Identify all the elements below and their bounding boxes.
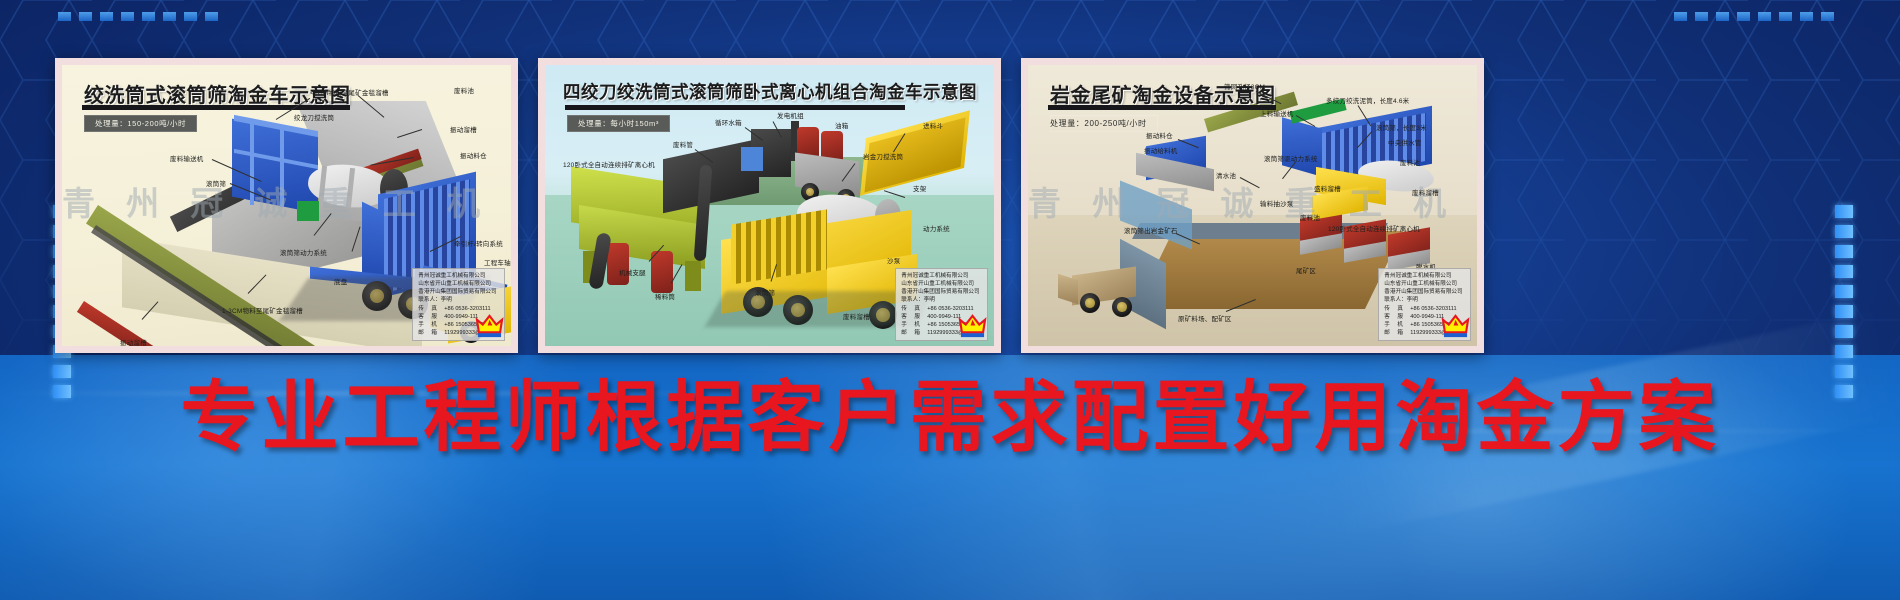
drive-motor — [297, 201, 319, 221]
callout: 沙泵 — [887, 255, 900, 265]
top-tick-row — [1674, 8, 1842, 17]
mobile-label: 手 机 — [418, 321, 444, 329]
crown-flame-logo-icon — [958, 313, 987, 340]
callout: 振动溜槽 — [450, 124, 477, 134]
service-value: 400-9949-111 — [444, 314, 478, 320]
cage-post — [280, 125, 284, 207]
callout: 振动料仓 — [460, 150, 487, 160]
email-label: 邮 箱 — [1384, 329, 1410, 337]
callout: 循环水箱 — [715, 117, 742, 127]
callout: 滚筒筛 — [206, 178, 226, 188]
callout: 盛料溜槽 — [1314, 183, 1341, 193]
promo-headline: 专业工程师根据客户需求配置好用淘金方案 — [0, 380, 1900, 457]
callout: 废料池 — [454, 85, 474, 95]
contact-person: 联系人：李明 — [418, 296, 499, 304]
crown-flame-logo-icon — [1441, 313, 1470, 340]
callout: 废料溜槽 — [1412, 187, 1439, 197]
callout: 振动给料机 — [1144, 145, 1178, 155]
contact-person: 联系人：李明 — [901, 296, 982, 304]
crown-flame-logo-icon — [475, 313, 504, 340]
callout: 输料抽沙泵 — [1260, 198, 1294, 208]
support-leg — [685, 261, 701, 291]
right-dash-column — [1835, 205, 1853, 405]
diagram-panel-3[interactable]: 青 州 冠 诚 重 工 机 械 有 限 公 司 岩金尾矿淘金设备示意图 处理量：… — [1021, 58, 1484, 353]
loader-wheel — [1112, 297, 1132, 317]
panel-1-scene: 青 州 冠 诚 重 工 机 械 有 限 公 司 绞洗筒式滚筒筛淘金车示意图 处理… — [62, 65, 511, 346]
callout: 中央供水管 — [1388, 137, 1422, 147]
company-name-3: 香港开山集团国际贸易有限公司 — [901, 288, 982, 296]
service-label: 客 服 — [901, 313, 927, 321]
service-label: 客 服 — [418, 313, 444, 321]
callout: 振动料仓 — [1146, 130, 1173, 140]
loader-wheel — [1080, 293, 1100, 313]
feed-tank — [651, 251, 673, 293]
panel-3-inner: 青 州 冠 诚 重 工 机 械 有 限 公 司 岩金尾矿淘金设备示意图 处理量：… — [1028, 65, 1477, 346]
callout: 滚筒筛驱动力系统 — [1264, 153, 1318, 163]
fax-value: +86 0536-3203111 — [927, 306, 973, 312]
callout: 工程车轴 — [484, 257, 511, 267]
callout: 多绞刀绞洗泥筒，长度4.6米 — [1326, 95, 1409, 105]
company-name-2: 山东省开山重工机械有限公司 — [901, 280, 982, 288]
panel-2-inner: 四绞刀绞洗筒式滚筒筛卧式离心机组合淘金车示意图 处理量：每小时150m³ 发电机… — [545, 65, 994, 346]
callout: 岩金刀搅洗筒 — [863, 151, 903, 161]
diagram-panel-1[interactable]: 青 州 冠 诚 重 工 机 械 有 限 公 司 绞洗筒式滚筒筛淘金车示意图 处理… — [55, 58, 518, 353]
callout: <1CM物料至尾矿金毯溜槽 — [310, 87, 389, 97]
callout: 支架 — [913, 183, 926, 193]
panel-3-capacity-badge: 处理量：200-250吨/小时 — [1050, 115, 1158, 132]
callout: 废料溜槽 — [843, 311, 870, 321]
fax-label: 传 真 — [901, 305, 927, 313]
callout: 上料输送机 — [1260, 108, 1294, 118]
service-label: 客 服 — [1384, 313, 1410, 321]
callout: 滚筒筛，长度3米 — [1376, 122, 1427, 132]
company-name-3: 香港开山集团国际贸易有限公司 — [1384, 288, 1465, 296]
callout: 120卧式全自动连续排矿离心机 — [563, 159, 655, 169]
fax-label: 传 真 — [418, 305, 444, 313]
callout: 底盘 — [334, 276, 347, 286]
callout: 动力系统 — [923, 223, 950, 233]
callout: 牵引杆/转向系统 — [454, 238, 503, 248]
callout: 尾矿区 — [1296, 265, 1316, 275]
panel-2-scene: 四绞刀绞洗筒式滚筒筛卧式离心机组合淘金车示意图 处理量：每小时150m³ 发电机… — [545, 65, 994, 346]
callout: 滚筒筛 — [755, 287, 775, 297]
callout: 原矿料场、配矿区 — [1178, 313, 1232, 323]
fax-value: +86 0536-3203111 — [1410, 306, 1456, 312]
panel-2-title-rule — [565, 105, 905, 110]
fax-label: 传 真 — [1384, 305, 1410, 313]
callout: 滚筒筛出岩金矿石 — [1124, 225, 1178, 235]
callout: 绞龙刀搅洗筒 — [294, 112, 334, 122]
panel-1-title-rule — [82, 105, 350, 110]
service-value: 400-9949-111 — [1410, 314, 1444, 320]
company-name-1: 青州冠诚重工机械有限公司 — [418, 272, 499, 280]
callout: 滚筒筛动力系统 — [280, 247, 327, 257]
company-name-2: 山东省开山重工机械有限公司 — [418, 280, 499, 288]
contact-person: 联系人：李明 — [1384, 296, 1465, 304]
callout: 机械支腿 — [619, 267, 646, 277]
callout: 1-3CM物料至尾矿金毯溜槽 — [222, 305, 303, 315]
leader-line — [1240, 177, 1260, 188]
callout: 振动溜槽 — [120, 337, 147, 346]
callout: 废料管 — [673, 139, 693, 149]
panel-3-title-rule — [1048, 105, 1276, 110]
promo-headline-text: 专业工程师根据客户需求配置好用淘金方案 — [181, 375, 1720, 461]
callout: 废料池 — [1400, 157, 1420, 167]
feed-tank — [607, 243, 629, 285]
callout: 废料池 — [1300, 212, 1320, 222]
callout: 发电机组 — [777, 110, 804, 120]
callout: 120卧式全自动连续排矿离心机 — [1328, 223, 1420, 233]
top-tick-row — [58, 8, 226, 17]
panel-2-title: 四绞刀绞洗筒式滚筒筛卧式离心机组合淘金车示意图 — [563, 79, 977, 104]
callout: 废料输送机 — [170, 153, 204, 163]
mobile-label: 手 机 — [1384, 321, 1410, 329]
panel-3-scene: 青 州 冠 诚 重 工 机 械 有 限 公 司 岩金尾矿淘金设备示意图 处理量：… — [1028, 65, 1477, 346]
fax-value: +86 0536-3203111 — [444, 306, 490, 312]
email-label: 邮 箱 — [418, 329, 444, 337]
panel-2-capacity-badge: 处理量：每小时150m³ — [567, 115, 670, 132]
company-name-1: 青州冠诚重工机械有限公司 — [901, 272, 982, 280]
callout: 筛网孔径3CM — [1224, 81, 1265, 91]
email-label: 邮 箱 — [901, 329, 927, 337]
company-name-3: 香港开山集团国际贸易有限公司 — [418, 288, 499, 296]
company-name-1: 青州冠诚重工机械有限公司 — [1384, 272, 1465, 280]
service-value: 400-9949-111 — [927, 314, 961, 320]
callout: 稀料筒 — [655, 291, 675, 301]
mobile-label: 手 机 — [901, 321, 927, 329]
diagram-panel-2[interactable]: 四绞刀绞洗筒式滚筒筛卧式离心机组合淘金车示意图 处理量：每小时150m³ 发电机… — [538, 58, 1001, 353]
callout: 进料斗 — [923, 120, 943, 130]
pump-unit — [741, 147, 763, 171]
callout: 油箱 — [835, 120, 848, 130]
panel-1-capacity-badge: 处理量：150-200吨/小时 — [84, 115, 197, 132]
company-name-2: 山东省开山重工机械有限公司 — [1384, 280, 1465, 288]
panel-1-inner: 青 州 冠 诚 重 工 机 械 有 限 公 司 绞洗筒式滚筒筛淘金车示意图 处理… — [62, 65, 511, 346]
callout: 清水池 — [1216, 170, 1236, 180]
